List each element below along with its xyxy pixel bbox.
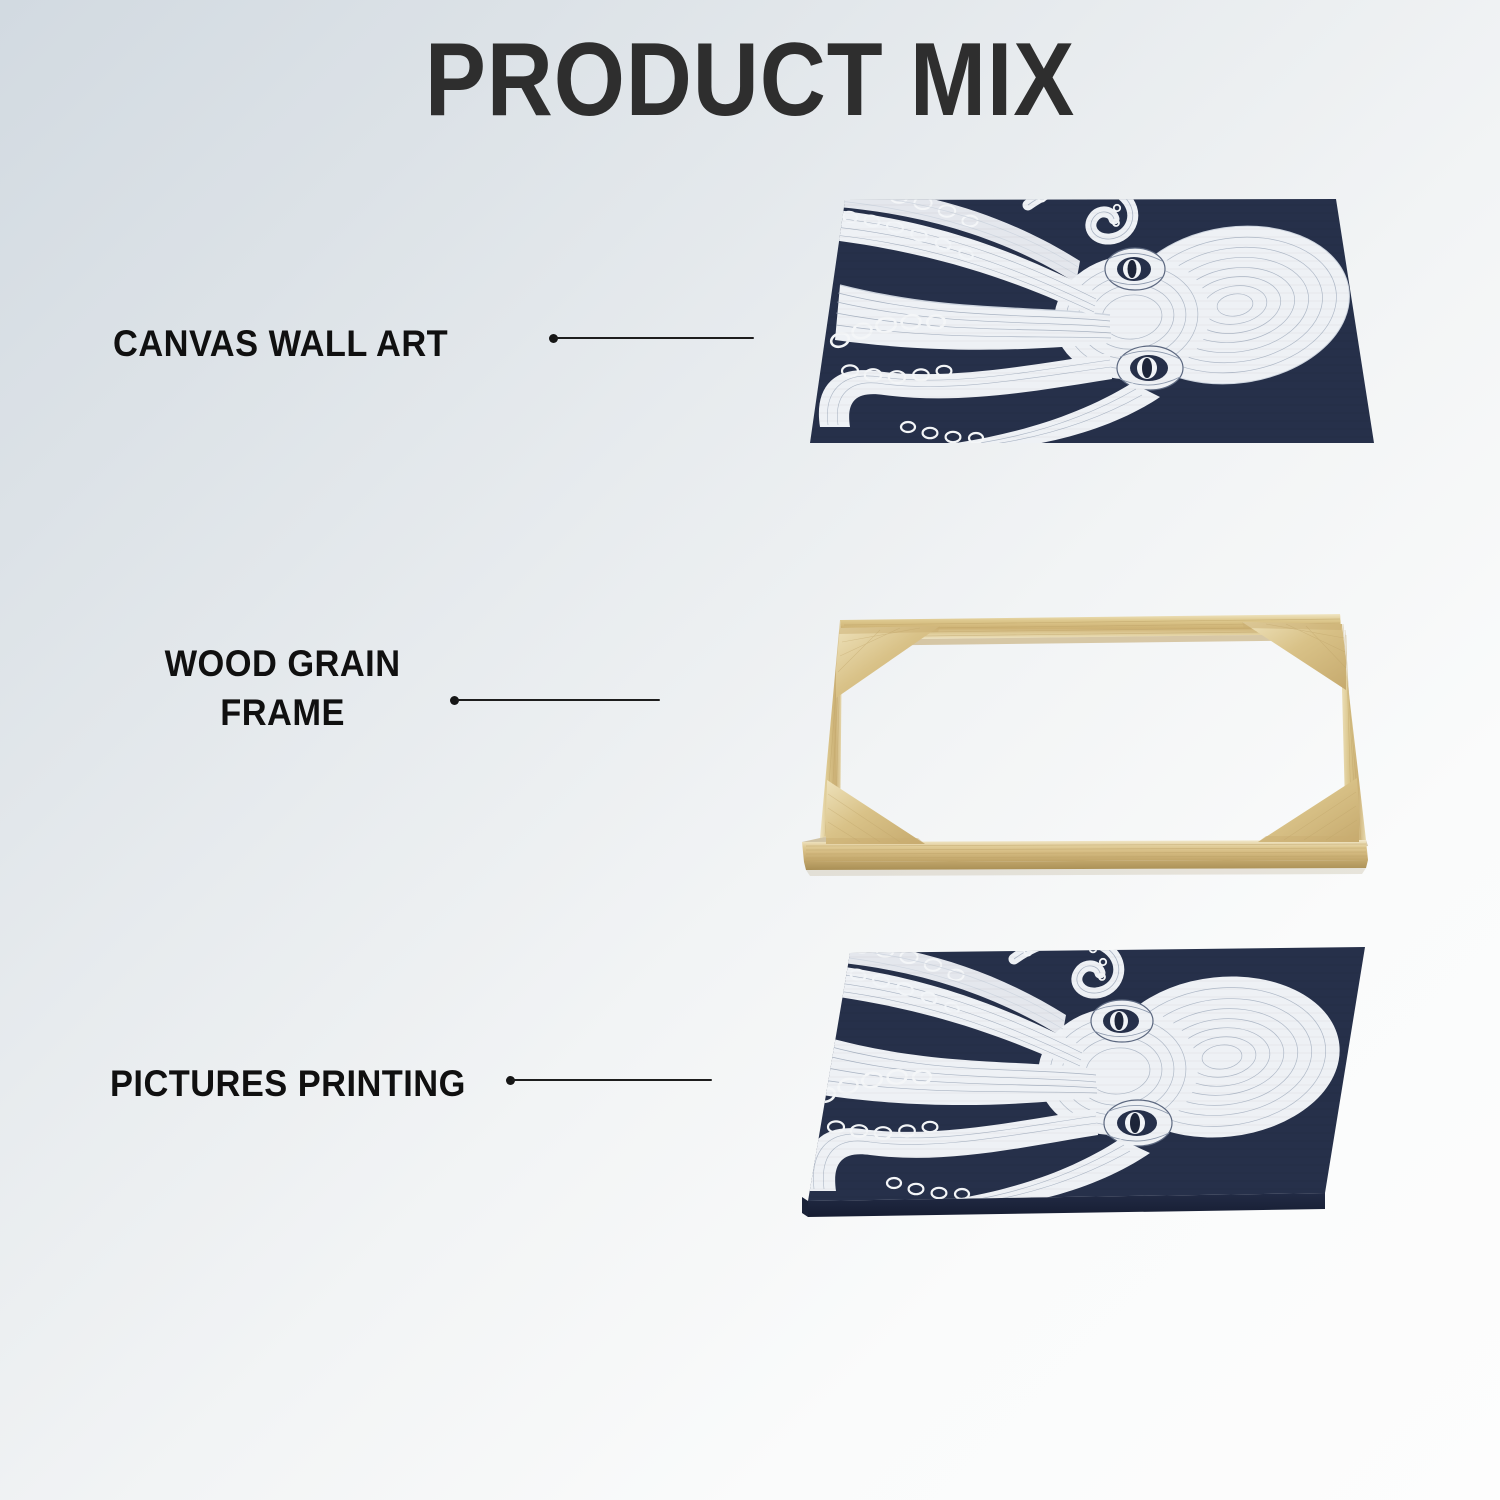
product-image-pictures-printing [780, 925, 1400, 1245]
callout-label-line-2: FRAME [220, 692, 345, 733]
wood-frame-assembly [802, 614, 1368, 876]
corner-brace-bottom-left [826, 780, 925, 844]
octopus-eye-lower [1104, 1100, 1172, 1146]
leader-line-pictures-printing [506, 1073, 712, 1087]
callout-label-canvas-wall-art: CANVAS WALL ART [113, 320, 448, 369]
octopus-eye-lower [1117, 346, 1183, 390]
leader-rule [456, 699, 660, 701]
leader-rule [512, 1079, 712, 1081]
leader-line-wood-grain-frame [450, 693, 660, 707]
product-image-canvas-wall-art [780, 165, 1400, 475]
infographic-page: PRODUCT MIX CANVAS WALL ART WOOD GRAIN F… [0, 0, 1500, 1500]
page-title: PRODUCT MIX [90, 26, 1410, 135]
callout-label-wood-grain-frame: WOOD GRAIN FRAME [157, 640, 408, 738]
leader-rule [555, 337, 754, 339]
corner-brace-bottom-right [1258, 778, 1359, 842]
callout-label-line-1: WOOD GRAIN [165, 643, 401, 684]
product-image-wood-grain-frame [780, 590, 1400, 880]
callout-label-pictures-printing: PICTURES PRINTING [110, 1060, 466, 1109]
leader-line-canvas-wall-art [549, 331, 754, 345]
